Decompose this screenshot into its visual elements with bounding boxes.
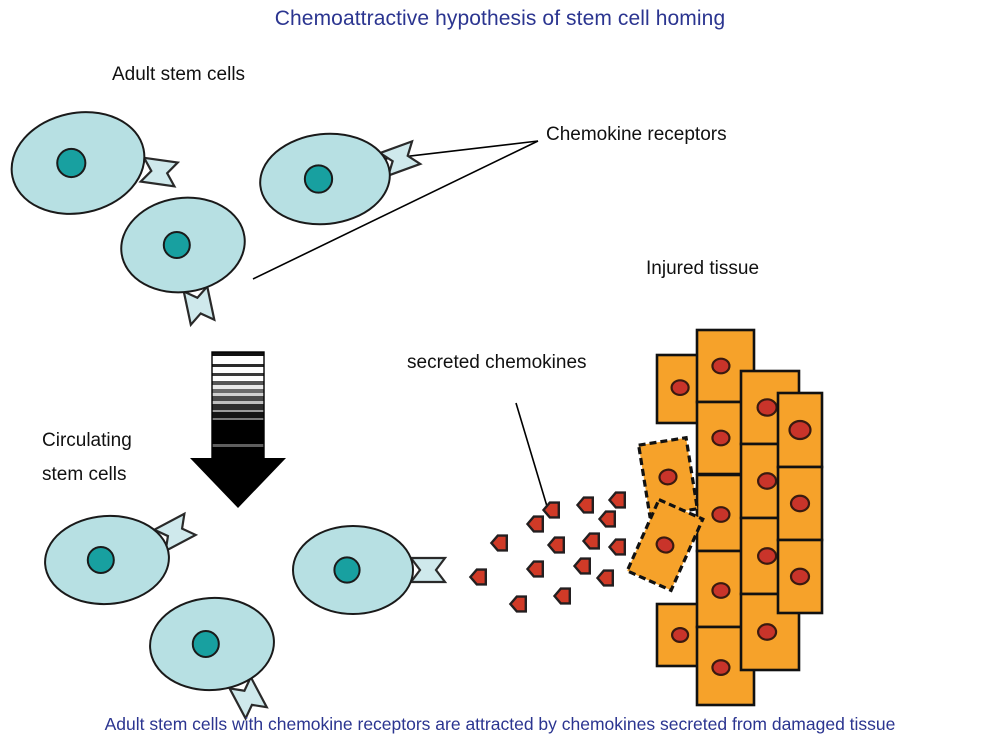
circulating-stem-cell-1 — [42, 512, 196, 608]
chemokine-particle — [578, 498, 593, 513]
tissue-cell-nucleus — [712, 507, 729, 522]
stem-cell-nucleus — [305, 165, 332, 192]
tissue-cell-nucleus — [758, 399, 777, 415]
arrow-band-18 — [212, 447, 264, 458]
chemokine-particle — [555, 589, 570, 604]
chemokine-particle — [610, 493, 625, 508]
chemokines-group — [470, 493, 624, 612]
label-circulating-stem-cells-line2: stem cells — [42, 464, 126, 486]
tissue-cell-nucleus — [790, 421, 811, 439]
arrow-band-3 — [212, 367, 264, 373]
circulating-stem-cell-2 — [147, 594, 277, 719]
chemokine-particle — [600, 512, 615, 527]
receptor-shape — [141, 158, 178, 186]
arrow-band-2 — [212, 364, 264, 367]
arrow-shaft — [212, 352, 264, 465]
stem-cell-nucleus — [193, 631, 219, 657]
tissue-cell-nucleus — [791, 569, 809, 584]
stem-cell-nucleus — [88, 547, 114, 573]
tissue-cell-nucleus — [758, 473, 776, 488]
tissue-cell-nucleus — [672, 380, 689, 395]
chemokine-particle — [528, 562, 543, 577]
arrow-band-8 — [212, 389, 264, 393]
stem-cell-nucleus — [57, 149, 85, 177]
arrow-band-7 — [212, 385, 264, 389]
arrow-band-11 — [212, 401, 264, 404]
detached-cells-group — [627, 438, 703, 591]
chemokine-receptor — [141, 158, 178, 186]
chemokine-leader — [516, 403, 549, 513]
chemokine-particle — [549, 538, 564, 553]
diagram-graphics — [0, 0, 1000, 756]
adult-stem-cell-2 — [115, 190, 251, 325]
label-injured-tissue: Injured tissue — [646, 258, 759, 280]
tissue-column-4 — [778, 393, 822, 613]
label-chemokine-receptors: Chemokine receptors — [546, 124, 727, 146]
arrow-band-13 — [212, 410, 264, 412]
arrow-band-15 — [212, 418, 264, 420]
arrow-band-5 — [212, 376, 264, 381]
tissue-cell-nucleus — [712, 583, 729, 598]
chemokine-particle — [610, 540, 625, 555]
label-secreted-chemokines: secreted chemokines — [407, 352, 587, 374]
label-circulating-stem-cells-line1: Circulating — [42, 430, 132, 452]
circulating-stem-cell-3 — [293, 526, 445, 614]
tissue-cell-nucleus — [712, 359, 729, 374]
arrow-band-1 — [212, 356, 264, 364]
stem-cell-nucleus — [164, 232, 190, 258]
chemokine-particle — [575, 559, 590, 574]
tissue-cell-nucleus — [758, 624, 776, 639]
detached-cell-lower — [627, 500, 703, 591]
chemokine-particle — [510, 597, 525, 612]
tissue-cell-nucleus — [712, 431, 729, 446]
arrow-band-17 — [212, 444, 264, 447]
figure-caption: Adult stem cells with chemokine receptor… — [0, 714, 1000, 735]
tissue-cell-nucleus — [791, 496, 809, 511]
chemokine-particle — [598, 571, 613, 586]
adult-stem-cell-3 — [256, 127, 421, 230]
diagram-canvas: Chemoattractive hypothesis of stem cell … — [0, 0, 1000, 756]
chemokine-particle — [528, 517, 543, 532]
chemokine-particle — [584, 534, 599, 549]
arrow-band-4 — [212, 373, 264, 376]
arrow-band-10 — [212, 396, 264, 401]
arrow-band-16 — [212, 420, 264, 444]
chemokine-particle — [470, 570, 485, 585]
migration-arrow-group — [190, 352, 286, 508]
arrow-band-14 — [212, 412, 264, 418]
chemokine-particle — [491, 536, 506, 551]
arrow-band-6 — [212, 381, 264, 385]
arrow-band-12 — [212, 404, 264, 410]
label-adult-stem-cells: Adult stem cells — [112, 64, 245, 86]
arrow-head — [190, 458, 286, 508]
tissue-cell-nucleus — [712, 660, 729, 675]
tissue-cell-nucleus — [672, 628, 688, 642]
tissue-cell-nucleus — [758, 548, 776, 563]
receptor-shape — [411, 558, 445, 582]
chemokine-receptor — [411, 558, 445, 582]
stem-cell-nucleus — [334, 557, 359, 582]
arrow-band-9 — [212, 393, 264, 396]
